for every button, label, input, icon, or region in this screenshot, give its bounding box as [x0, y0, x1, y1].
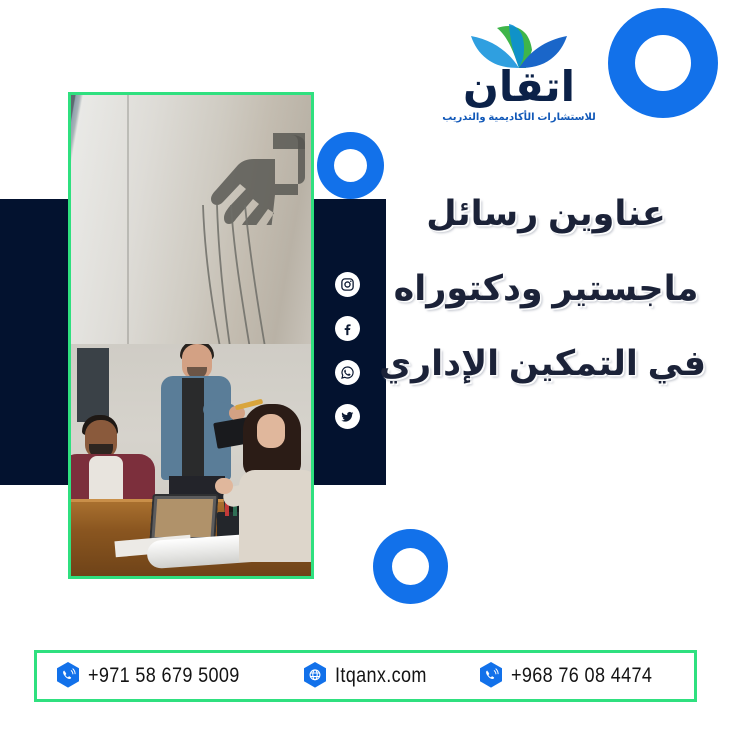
laptop-left: [149, 494, 218, 540]
twitter-icon[interactable]: [335, 404, 360, 429]
facebook-icon[interactable]: [335, 316, 360, 341]
instagram-icon[interactable]: [335, 272, 360, 297]
whatsapp-icon[interactable]: [335, 360, 360, 385]
ring-hole: [635, 35, 691, 91]
door: [77, 348, 109, 422]
inner-shirt: [182, 378, 204, 482]
person-seated-right: [229, 408, 311, 558]
phone-call-icon: [478, 662, 504, 691]
phone-call-icon: [55, 662, 81, 691]
contact-label: Itqanx.com: [335, 664, 427, 688]
meeting-room-scene: [71, 344, 311, 576]
contact-website[interactable]: Itqanx.com: [302, 662, 442, 691]
decor-ring-middle-left: [317, 132, 384, 199]
decor-ring-top-right: [608, 8, 718, 118]
social-links-rail: [333, 272, 361, 429]
brand-name: اتقان: [424, 66, 614, 108]
ring-hole: [392, 548, 429, 585]
hero-photo-card: [68, 92, 314, 579]
decor-ring-bottom-center: [373, 529, 448, 604]
contact-phone-uae[interactable]: +971 58 679 5009: [55, 662, 264, 691]
face: [257, 414, 285, 448]
page-title: عناوين رسائل ماجستير ودكتوراه في التمكين…: [386, 196, 706, 381]
headline-line-3: في التمكين الإداري: [386, 346, 706, 381]
contact-bar: +971 58 679 5009 Itqanx.com +968 76 08 4…: [34, 650, 697, 702]
hand: [215, 478, 233, 494]
ring-hole: [334, 149, 367, 182]
laptop-screen: [155, 499, 214, 537]
hero-photo: [71, 95, 311, 576]
headline-line-2: ماجستير ودكتوراه: [386, 271, 706, 306]
headline-line-1: عناوين رسائل: [386, 196, 706, 231]
poster-canvas: اتقان للاستشارات الأكاديمية والتدريب عنا…: [0, 0, 730, 730]
brand-logo[interactable]: اتقان للاستشارات الأكاديمية والتدريب: [424, 22, 614, 140]
contact-phone-oman[interactable]: +968 76 08 4474: [478, 662, 675, 691]
contact-label: +968 76 08 4474: [511, 664, 652, 688]
brand-tagline: للاستشارات الأكاديمية والتدريب: [424, 112, 614, 123]
globe-website-icon: [302, 662, 328, 691]
contact-label: +971 58 679 5009: [88, 664, 240, 688]
